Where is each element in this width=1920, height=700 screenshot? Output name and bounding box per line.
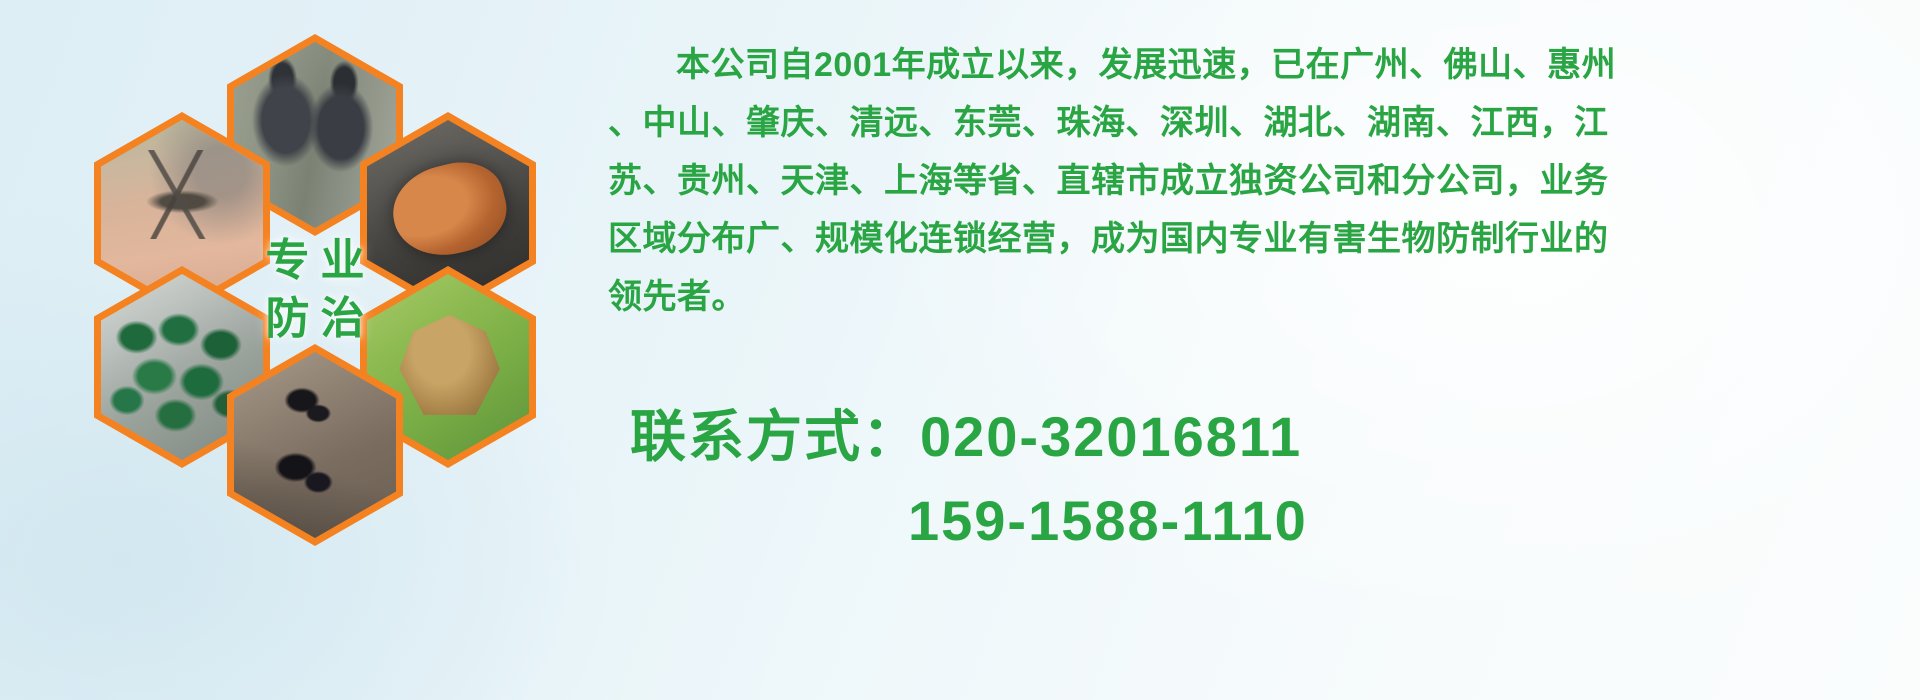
content-column: 本公司自2001年成立以来，发展迅速，已在广州、佛山、惠州 、中山、肇庆、清远、… xyxy=(608,0,1898,700)
about-line-3: 苏、贵州、天津、上海等省、直辖市成立独资公司和分公司，业务 xyxy=(608,152,1900,210)
about-line-4: 区域分布广、规模化连锁经营，成为国内专业有害生物防制行业的 xyxy=(608,210,1900,268)
slogan: 专业 防治 xyxy=(234,197,396,383)
slogan-line-2: 防治 xyxy=(255,297,376,341)
about-paragraph: 本公司自2001年成立以来，发展迅速，已在广州、佛山、惠州 、中山、肇庆、清远、… xyxy=(608,36,1900,326)
about-line-1: 本公司自2001年成立以来，发展迅速，已在广州、佛山、惠州 xyxy=(608,36,1900,94)
contact-phone-secondary[interactable]: 159-1588-1110 xyxy=(618,479,1908,563)
about-line-2: 、中山、肇庆、清远、东莞、珠海、深圳、湖北、湖南、江西，江 xyxy=(608,94,1900,152)
honeycomb-photo-mosaic: 专业 防治 xyxy=(80,0,600,570)
slogan-line-1: 专业 xyxy=(255,239,376,283)
contact-block: 联系方式：020-32016811 159-1588-1110 xyxy=(618,395,1908,563)
contact-phone-primary[interactable]: 联系方式：020-32016811 xyxy=(618,395,1908,479)
hex-center-inner: 专业 防治 xyxy=(234,197,396,383)
about-line-5: 领先者。 xyxy=(608,268,1900,326)
